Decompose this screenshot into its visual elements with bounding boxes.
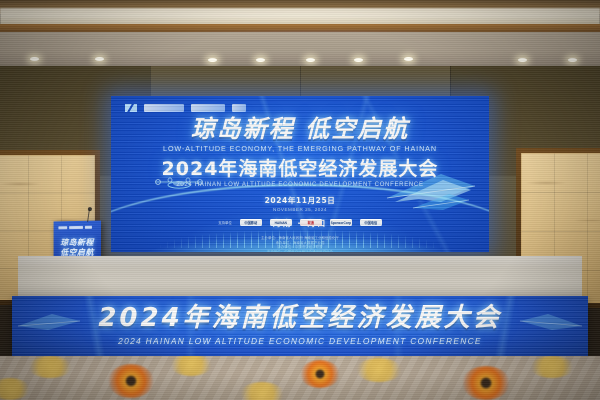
stage-platform-sheen	[18, 256, 582, 268]
banner-pixel-scanlines	[12, 296, 588, 358]
rollup-logo-strip	[58, 225, 96, 230]
ceiling-downlight	[208, 58, 217, 62]
partner-logo-1-icon	[58, 226, 67, 229]
carpet-flower	[356, 358, 402, 382]
led-headline-cn: 琼岛新程 低空启航	[111, 116, 489, 142]
conference-stage-photo: 琼岛新程 低空启航 LOW-ALTITUDE ECONOMY, THE EMER…	[0, 0, 600, 400]
ceiling-downlight	[568, 58, 577, 62]
ceiling-cream-band	[0, 8, 600, 25]
5g-logo-icon	[85, 225, 92, 228]
carpet-flower	[300, 360, 340, 388]
caac-logo-icon	[69, 225, 83, 228]
carpet-flower	[530, 356, 574, 378]
ceiling-downlight	[256, 58, 265, 62]
ceiling-downlight	[95, 57, 104, 61]
ceiling-downlight	[30, 57, 39, 61]
ceiling-downlight	[404, 57, 413, 61]
ballroom-carpet	[0, 356, 600, 400]
led-backdrop-screen: 琼岛新程 低空启航 LOW-ALTITUDE ECONOMY, THE EMER…	[111, 96, 489, 252]
wall-seam	[300, 66, 301, 98]
ceiling-downlight	[306, 58, 315, 62]
stage-front-banner: 2024年海南低空经济发展大会 2024 HAINAN LOW ALTITUDE…	[12, 296, 588, 358]
led-headline-en: LOW-ALTITUDE ECONOMY, THE EMERGING PATHW…	[111, 144, 489, 153]
carpet-flower	[108, 364, 154, 398]
ceiling-downlight	[354, 58, 363, 62]
carpet-flower	[462, 366, 510, 400]
led-subtitle-cn: 2024年海南低空经济发展大会	[111, 159, 489, 180]
ceiling-soffit	[0, 32, 600, 68]
ceiling-downlight	[518, 58, 527, 62]
carpet-flower	[28, 356, 72, 378]
carpet-flower	[240, 382, 284, 400]
